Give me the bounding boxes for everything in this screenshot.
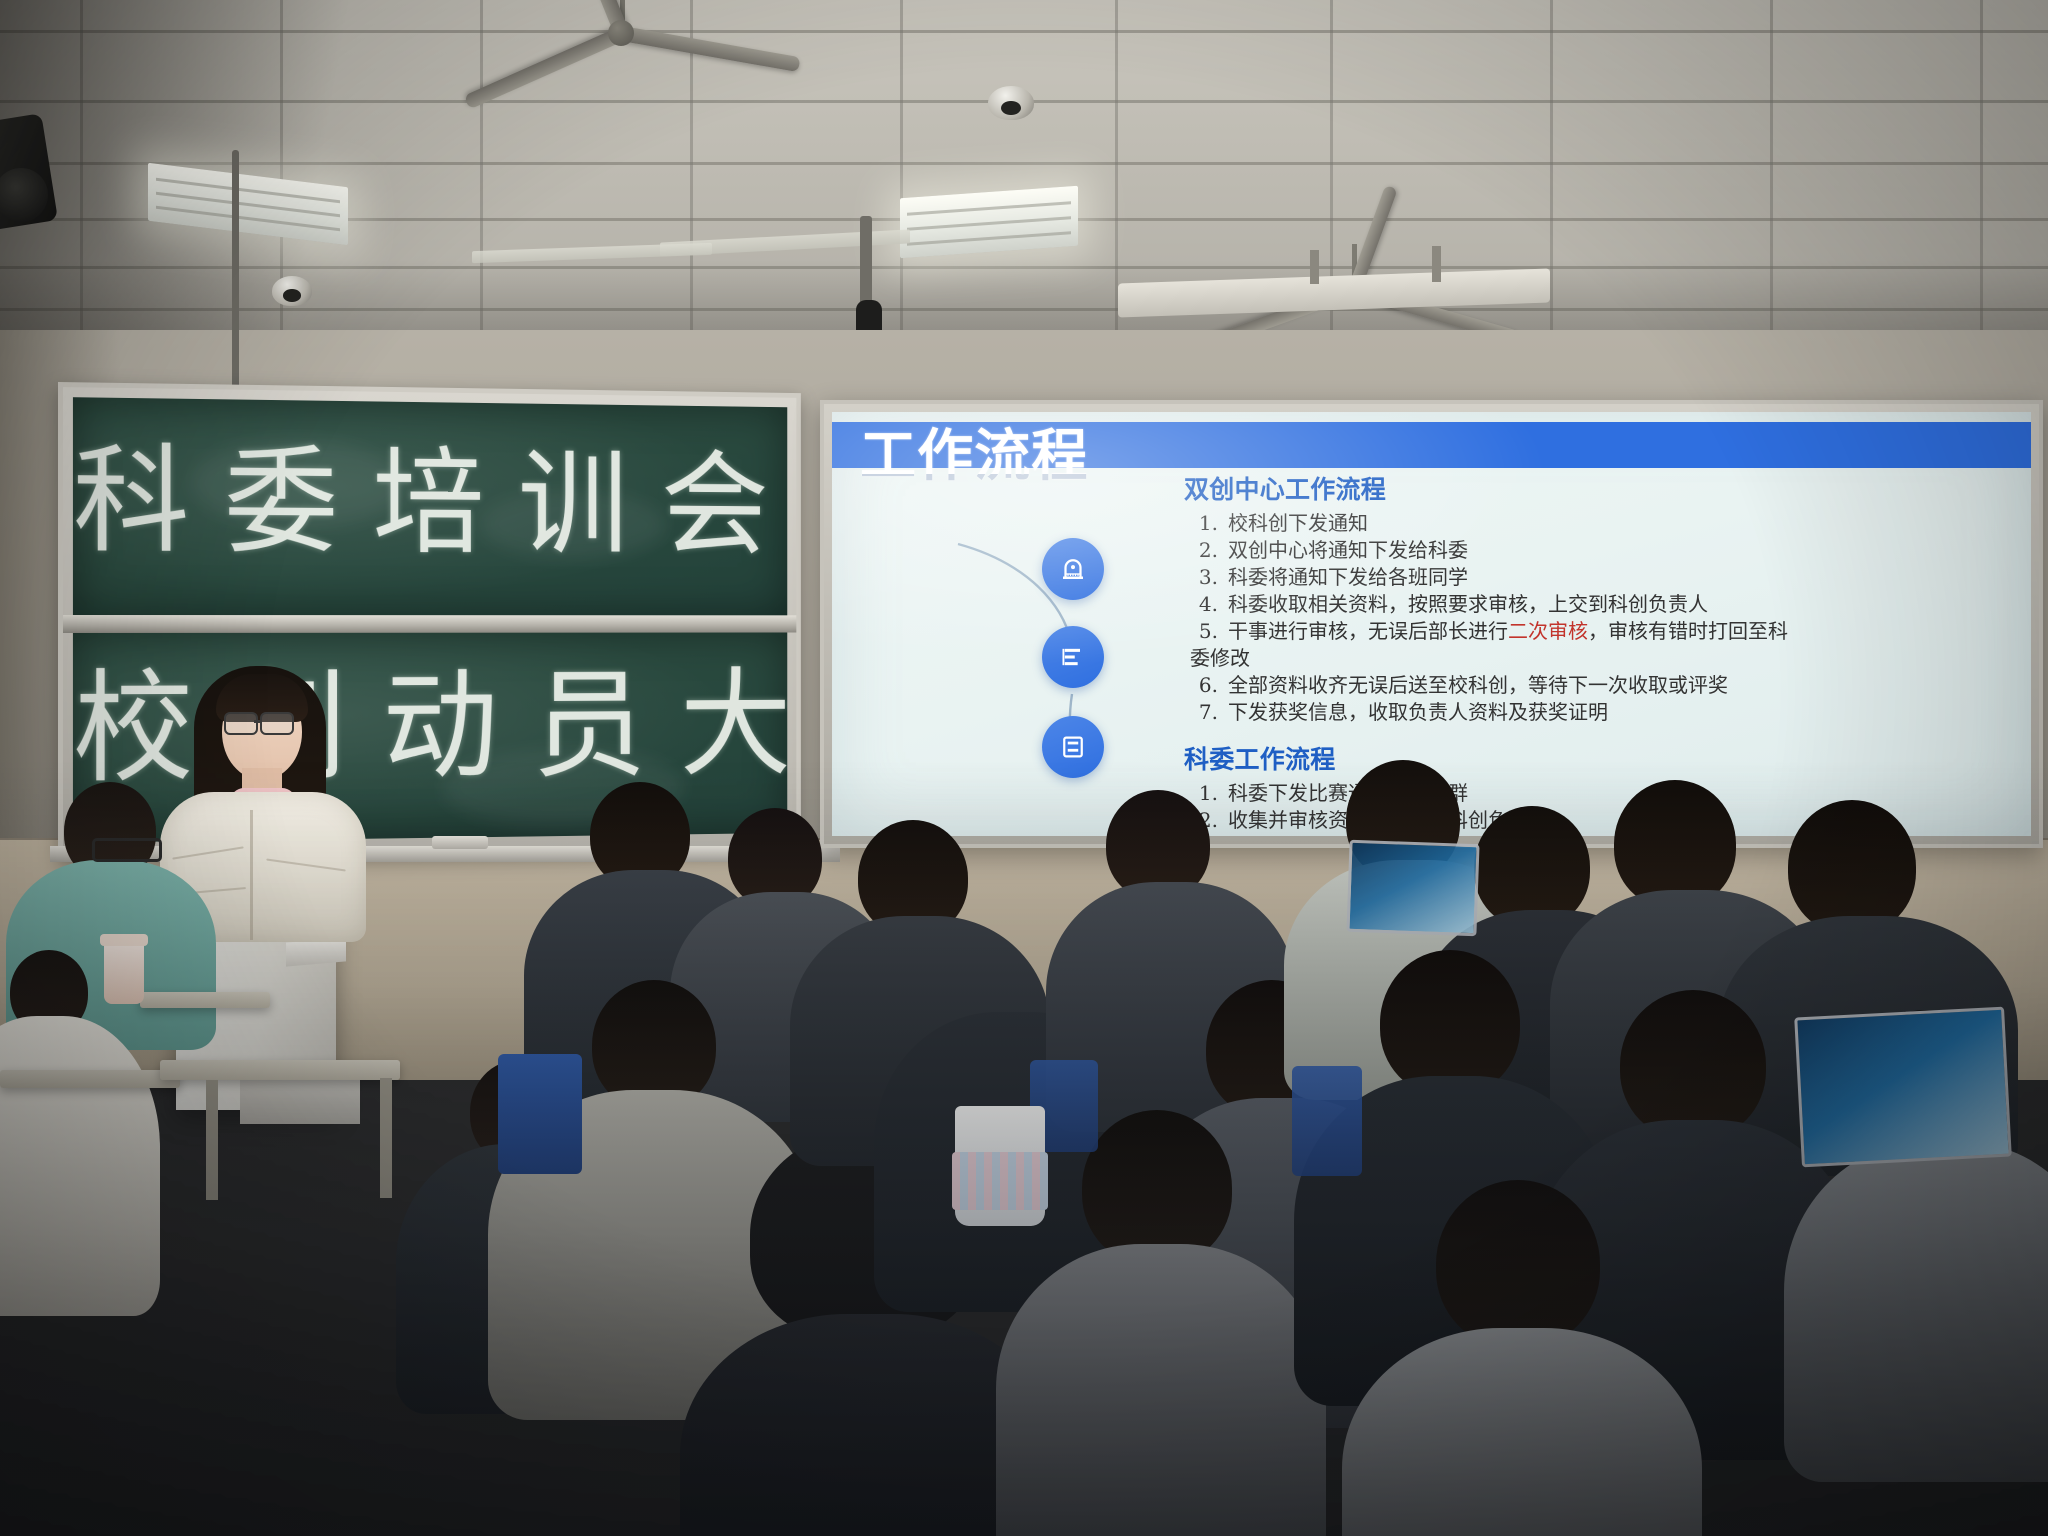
ceiling-duct-arm <box>1310 250 1319 284</box>
ceiling-duct-arm <box>1432 246 1441 282</box>
blackboard-panel-upper: 科委培训会 <box>73 397 787 615</box>
audience <box>0 760 2048 1536</box>
blackboard-text-line1: 科委培训会 <box>73 425 787 577</box>
arch-monument-icon <box>1058 554 1088 584</box>
dome-camera-icon <box>988 86 1034 120</box>
eyeglasses-bridge <box>254 720 262 723</box>
section-heading-1: 双创中心工作流程 <box>1184 474 1984 506</box>
eyeglasses-left <box>224 712 258 735</box>
dome-camera-icon <box>272 276 312 306</box>
microphone-boom <box>232 150 239 400</box>
eyeglasses-right <box>260 712 294 735</box>
slide-title: 工作流程 工作流程 <box>860 428 1088 484</box>
list-item: 7.下发获奖信息，收取负责人资料及获奖证明 <box>1222 699 1984 726</box>
diagram-node-2 <box>1042 626 1104 688</box>
list-item-continuation: 委修改 <box>1190 645 1984 672</box>
diagram-node-1 <box>1042 538 1104 600</box>
chalk-rail <box>63 615 796 633</box>
section-1-list: 1.校科创下发通知 2.双创中心将通知下发给科委 3.科委将通知下发给各班同学 … <box>1222 510 1984 726</box>
list-item: 6.全部资料收齐无误后送至校科创，等待下一次收取或评奖 <box>1222 672 1984 699</box>
flow-diagram <box>950 508 1170 798</box>
list-item: 3.科委将通知下发给各班同学 <box>1222 564 1984 591</box>
list-item: 2.双创中心将通知下发给科委 <box>1222 537 1984 564</box>
list-item: 5.干事进行审核，无误后部长进行二次审核，审核有错时打回至科 委修改 <box>1222 618 1984 672</box>
classroom-photo: 科委培训会 校创动员大会 工作流程 工作流程 <box>0 0 2048 1536</box>
list-item: 1.校科创下发通知 <box>1222 510 1984 537</box>
list-item: 4.科委收取相关资料，按照要求审核，上交到科创负责人 <box>1222 591 1984 618</box>
document-list-icon <box>1059 733 1087 761</box>
audience-shading <box>0 760 2048 1536</box>
highlight-text: 二次审核 <box>1508 619 1588 643</box>
light-panel <box>900 186 1078 258</box>
bar-chart-icon <box>1059 643 1087 671</box>
